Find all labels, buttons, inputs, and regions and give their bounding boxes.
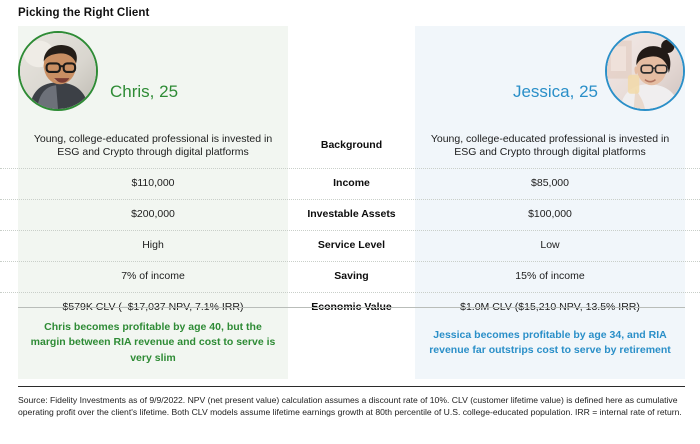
cell-label-income: Income: [288, 177, 415, 190]
cell-left-income: $110,000: [18, 177, 288, 190]
footnote-source-text: Source: Fidelity Investments as of 9/9/2…: [18, 394, 682, 418]
cell-right-investable-assets: $100,000: [415, 208, 685, 221]
cell-left-background: Young, college-educated professional is …: [18, 133, 288, 160]
comparison-table: Young, college-educated professional is …: [0, 124, 700, 323]
page-title: Picking the Right Client: [18, 7, 149, 19]
left-conclusion-text: Chris becomes profitable by age 40, but …: [18, 312, 288, 374]
footnote-divider: [18, 386, 685, 387]
left-person-name: Chris, 25: [110, 82, 178, 102]
cell-left-saving: 7% of income: [18, 270, 288, 283]
cell-right-background: Young, college-educated professional is …: [415, 133, 685, 160]
cell-label-saving: Saving: [288, 270, 415, 283]
cell-left-investable-assets: $200,000: [18, 208, 288, 221]
table-row: 7% of income Saving 15% of income: [0, 262, 700, 293]
cell-right-saving: 15% of income: [415, 270, 685, 283]
client-comparison-board: Chris, 25 Jessica, 25: [0, 26, 700, 379]
table-row: Young, college-educated professional is …: [0, 124, 700, 169]
cell-right-service-level: Low: [415, 239, 685, 252]
avatar-photo-chris: [18, 31, 98, 111]
cell-right-income: $85,000: [415, 177, 685, 190]
table-row: High Service Level Low: [0, 231, 700, 262]
right-person-name: Jessica, 25: [468, 82, 598, 102]
table-bottom-divider: [18, 307, 685, 308]
table-row: $110,000 Income $85,000: [0, 169, 700, 200]
cell-label-background: Background: [288, 139, 415, 152]
right-conclusion-text: Jessica becomes profitable by age 34, an…: [415, 312, 685, 374]
conclusions-row: Chris becomes profitable by age 40, but …: [0, 312, 700, 374]
cell-label-service-level: Service Level: [288, 239, 415, 252]
cell-left-service-level: High: [18, 239, 288, 252]
avatar-photo-jessica: [605, 31, 685, 111]
persons-header: Chris, 25 Jessica, 25: [0, 26, 700, 124]
table-row: $200,000 Investable Assets $100,000: [0, 200, 700, 231]
cell-label-investable-assets: Investable Assets: [288, 208, 415, 221]
